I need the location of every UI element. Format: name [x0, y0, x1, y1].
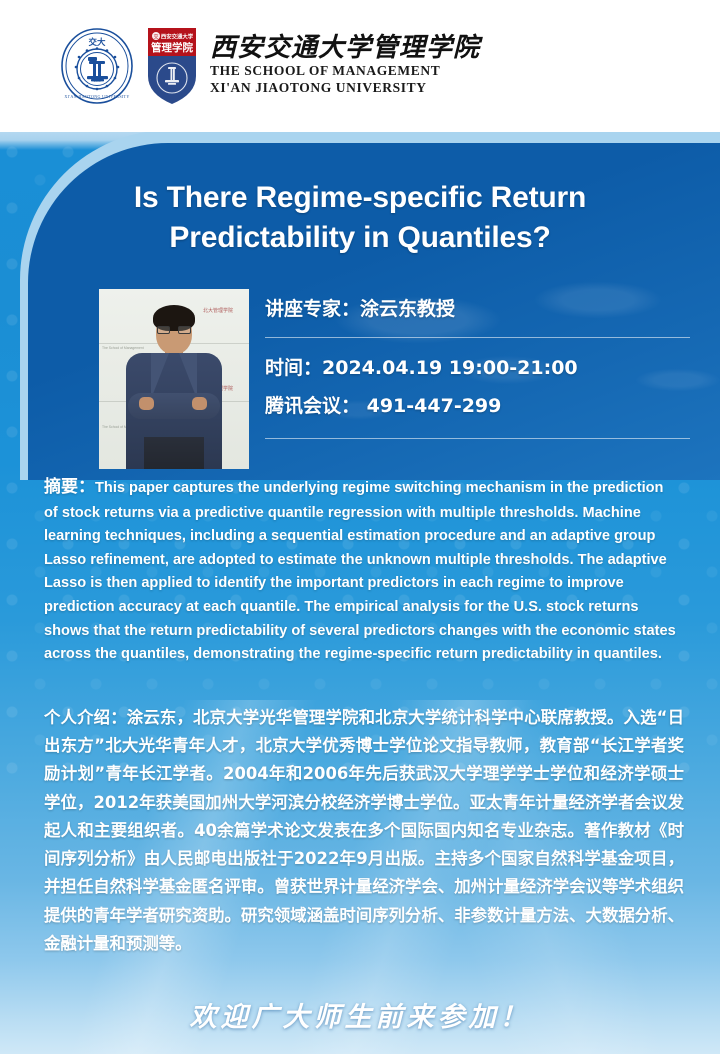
portrait-trousers — [144, 437, 204, 469]
svg-text:XI'AN JIAOTONG UNIVERSITY: XI'AN JIAOTONG UNIVERSITY — [64, 94, 129, 99]
university-wordmark: 西安交通大学管理学院 THE SCHOOL OF MANAGEMENT XI'A… — [210, 35, 480, 96]
meeting-id-line: 腾讯会议： 491-447-299 — [265, 392, 695, 421]
svg-text:交: 交 — [153, 33, 158, 40]
svg-text:西安交通大学: 西安交通大学 — [161, 33, 194, 41]
info-divider-bottom — [265, 438, 690, 439]
xjtu-circular-seal-icon: 交大 XI'AN JIAOTONG UNIVERSITY 1896 — [58, 27, 136, 105]
abstract-label: 摘要： — [44, 477, 95, 497]
abstract-text: This paper captures the underlying regim… — [44, 480, 676, 662]
seminar-poster: 交大 XI'AN JIAOTONG UNIVERSITY 1896 交 西安交通… — [0, 0, 720, 1054]
time-line: 时间：2024.04.19 19:00-21:00 — [265, 354, 695, 383]
portrait-hand-left — [139, 397, 154, 410]
wordmark-english-line1: THE SCHOOL OF MANAGEMENT — [210, 63, 480, 80]
speaker-line: 讲座专家：涂云东教授 — [265, 295, 695, 324]
title-line-2: Predictability in Quantiles? — [58, 218, 662, 258]
info-divider-top — [265, 337, 690, 338]
welcome-footer: 欢迎广大师生前来参加！ — [0, 995, 720, 1034]
school-of-management-shield-icon: 交 西安交通大学 管理学院 — [146, 26, 198, 106]
portrait-glasses — [157, 326, 191, 334]
svg-text:管理学院: 管理学院 — [151, 41, 193, 54]
title-line-1: Is There Regime-specific Return — [58, 178, 662, 218]
speaker-photo: 北大管理学院 北大管理学院 The School of Management T… — [99, 289, 249, 469]
svg-text:1896: 1896 — [93, 79, 100, 83]
portrait-hand-right — [192, 397, 207, 410]
page-title: Is There Regime-specific Return Predicta… — [0, 178, 720, 257]
svg-text:交大: 交大 — [88, 37, 106, 48]
seminar-info: 讲座专家：涂云东教授 时间：2024.04.19 19:00-21:00 腾讯会… — [265, 295, 695, 439]
wordmark-english-line2: XI'AN JIAOTONG UNIVERSITY — [210, 80, 480, 97]
wordmark-chinese: 西安交通大学管理学院 — [210, 35, 480, 62]
poster-header: 交大 XI'AN JIAOTONG UNIVERSITY 1896 交 西安交通… — [0, 0, 720, 132]
photo-backdrop-logo-top: 北大管理学院 — [203, 307, 233, 314]
photo-backdrop-caption-1: The School of Management — [102, 346, 144, 351]
abstract-section: 摘要：This paper captures the underlying re… — [44, 474, 678, 667]
speaker-bio: 个人介绍：涂云东，北京大学光华管理学院和北京大学统计科学中心联席教授。入选“日出… — [44, 704, 684, 958]
